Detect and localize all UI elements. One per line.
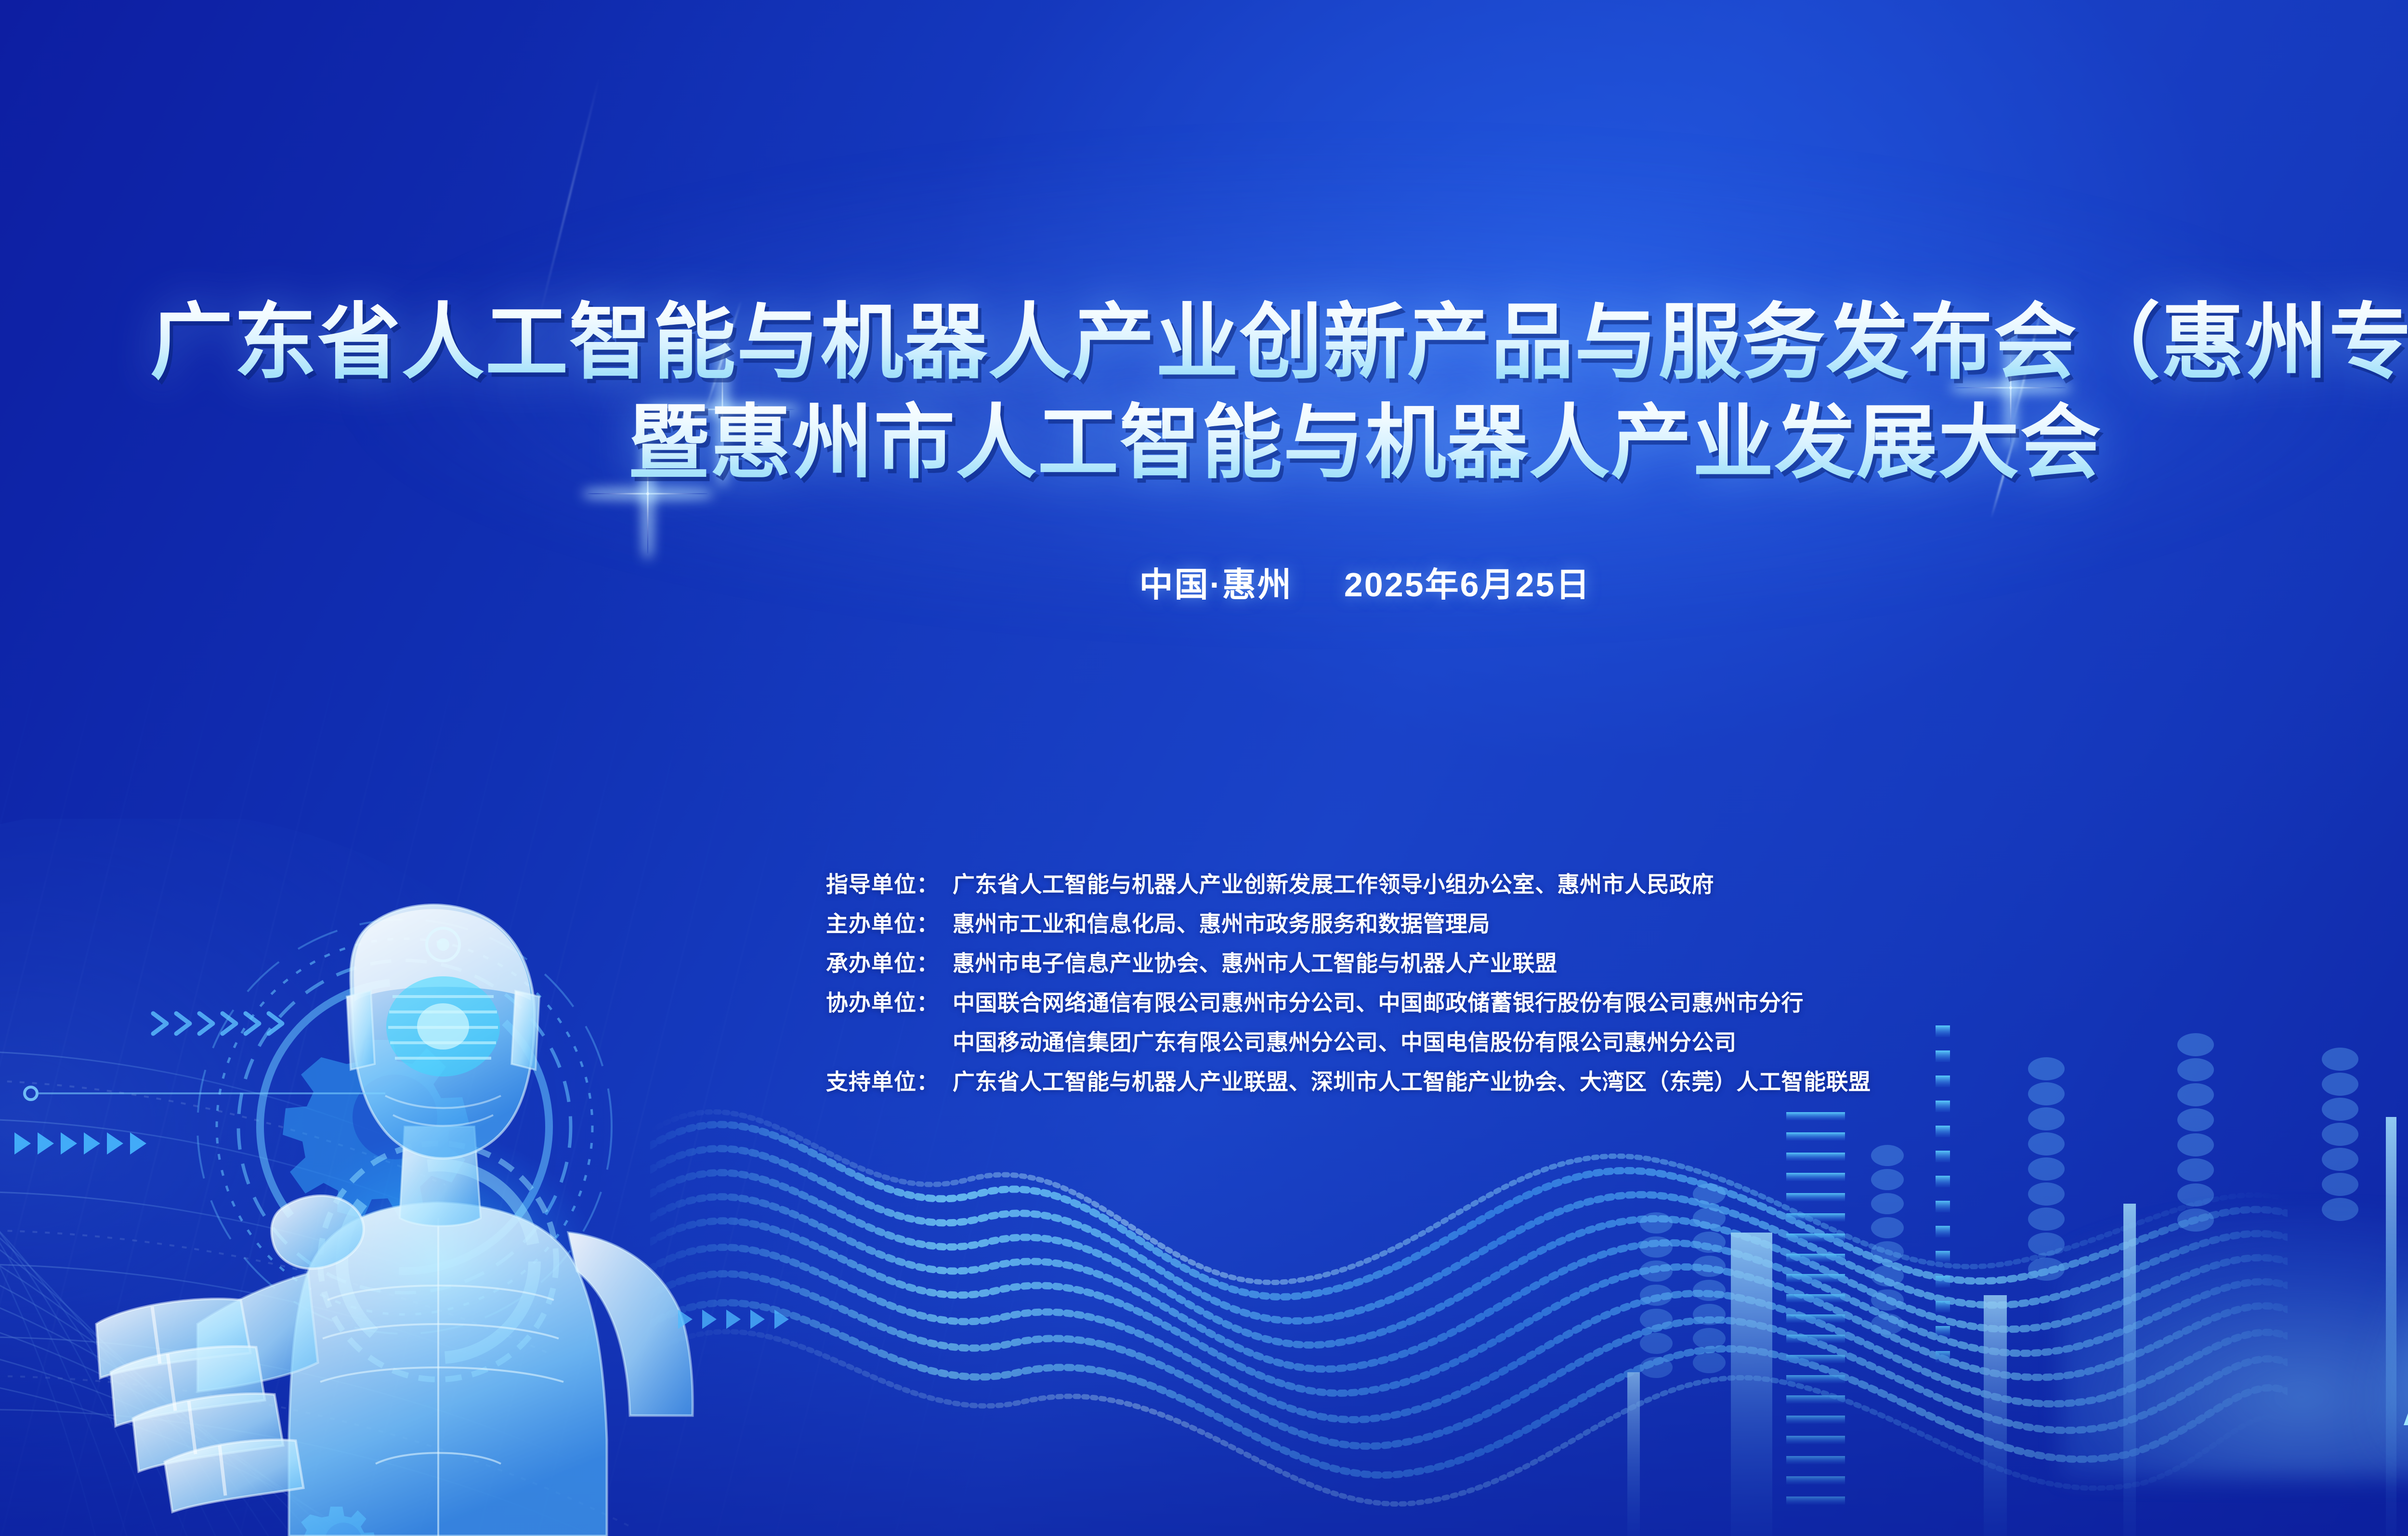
connector-node-line: [19, 1079, 501, 1108]
organizer-label: 指导单位：: [794, 867, 953, 899]
organizer-row-coorganizer: 协办单位： 中国联合网络通信有限公司惠州市分公司、中国邮政储蓄银行股份有限公司惠…: [794, 985, 1871, 1017]
organizer-label: 协办单位：: [794, 985, 953, 1017]
event-title: 广东省人工智能与机器人产业创新产品与服务发布会（惠州专场） 暨惠州市人工智能与机…: [0, 289, 2408, 495]
organizer-value: 广东省人工智能与机器人产业联盟、深圳市人工智能产业协会、大湾区（东莞）人工智能联…: [953, 1064, 1871, 1096]
organizer-list: 指导单位： 广东省人工智能与机器人产业创新发展工作领导小组办公室、惠州市人民政府…: [794, 867, 1871, 1104]
organizer-label: 承办单位：: [794, 946, 953, 978]
organizer-label: 主办单位：: [794, 906, 953, 938]
organizer-value: 广东省人工智能与机器人产业创新发展工作领导小组办公室、惠州市人民政府: [953, 867, 1714, 899]
ai-mark-glow: [2061, 1208, 2408, 1478]
poster-canvas: 广东省人工智能与机器人产业创新产品与服务发布会（惠州专场） 暨惠州市人工智能与机…: [0, 0, 2408, 1536]
chevron-arrows-upper: [144, 1007, 347, 1040]
organizer-row-coorganizer-continued: 协办单位： 中国移动通信集团广东有限公司惠州分公司、中国电信股份有限公司惠州分公…: [794, 1025, 1871, 1057]
organizer-label: 支持单位：: [794, 1064, 953, 1096]
chevron-arrows-lower: [10, 1127, 202, 1160]
robot-figure-graphic: [39, 838, 761, 1536]
organizer-row-guidance: 指导单位： 广东省人工智能与机器人产业创新发展工作领导小组办公室、惠州市人民政府: [794, 867, 1871, 899]
event-date: 2025年6月25日: [1344, 566, 1591, 604]
event-location: 中国·惠州: [1139, 566, 1293, 604]
organizer-row-support: 支持单位： 广东省人工智能与机器人产业联盟、深圳市人工智能产业协会、大湾区（东莞…: [794, 1064, 1871, 1096]
organizer-value: 惠州市电子信息产业协会、惠州市人工智能与机器人产业联盟: [953, 946, 1557, 978]
ai-logo-text: AI: [2399, 1262, 2408, 1455]
title-line-1: 广东省人工智能与机器人产业创新产品与服务发布会（惠州专场）: [0, 289, 2408, 397]
title-line-2: 暨惠州市人工智能与机器人产业发展大会: [0, 390, 2408, 495]
organizer-row-host: 主办单位： 惠州市工业和信息化局、惠州市政务服务和数据管理局: [794, 906, 1871, 938]
organizer-value: 中国移动通信集团广东有限公司惠州分公司、中国电信股份有限公司惠州分公司: [953, 1025, 1737, 1057]
organizer-value: 中国联合网络通信有限公司惠州市分公司、中国邮政储蓄银行股份有限公司惠州市分行: [953, 985, 1804, 1017]
organizer-row-undertaker: 承办单位： 惠州市电子信息产业协会、惠州市人工智能与机器人产业联盟: [794, 946, 1871, 978]
event-datetime-line: 中国·惠州 2025年6月25日: [0, 558, 2408, 606]
organizer-value: 惠州市工业和信息化局、惠州市政务服务和数据管理局: [953, 906, 1490, 938]
chevron-arrows-midline: [674, 1305, 838, 1334]
